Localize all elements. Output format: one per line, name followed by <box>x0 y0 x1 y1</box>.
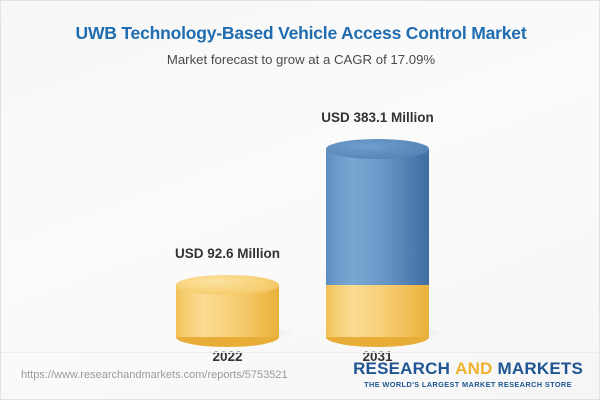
chart-plot-area: USD 92.6 Million 2022 USD 383.1 Million <box>1 87 600 337</box>
logo-tagline: THE WORLD'S LARGEST MARKET RESEARCH STOR… <box>353 380 583 390</box>
cylinder-bar-2031 <box>326 149 429 337</box>
bar-segment-top-ellipse <box>176 275 279 295</box>
market-forecast-infographic: UWB Technology-Based Vehicle Access Cont… <box>0 0 600 400</box>
cylinder-bar-2022 <box>176 285 279 337</box>
bar-segment-body <box>326 285 429 337</box>
bar-segment-body <box>326 149 429 285</box>
bar-segment-blue <box>326 149 429 285</box>
bar-segment-yellow-base <box>326 285 429 337</box>
footer: https://www.researchandmarkets.com/repor… <box>1 353 599 399</box>
logo-word-markets: MARKETS <box>498 359 583 378</box>
logo-word-and: AND <box>455 359 492 378</box>
bar-value-label-2031: USD 383.1 Million <box>321 110 434 125</box>
bar-group-2031: USD 383.1 Million 2031 <box>326 113 429 337</box>
research-and-markets-logo[interactable]: RESEARCHANDMARKETS THE WORLD'S LARGEST M… <box>353 359 583 390</box>
logo-word-research: RESEARCH <box>353 359 450 378</box>
page-title: UWB Technology-Based Vehicle Access Cont… <box>1 23 600 43</box>
bar-segment-top-ellipse <box>326 139 429 159</box>
header: UWB Technology-Based Vehicle Access Cont… <box>1 1 600 68</box>
report-url-link[interactable]: https://www.researchandmarkets.com/repor… <box>21 369 288 381</box>
bar-segment-yellow <box>176 285 279 337</box>
page-subtitle: Market forecast to grow at a CAGR of 17.… <box>1 52 600 68</box>
logo-wordmark: RESEARCHANDMARKETS <box>353 359 583 379</box>
bar-value-label-2022: USD 92.6 Million <box>175 246 280 261</box>
bar-group-2022: USD 92.6 Million 2022 <box>176 113 279 337</box>
